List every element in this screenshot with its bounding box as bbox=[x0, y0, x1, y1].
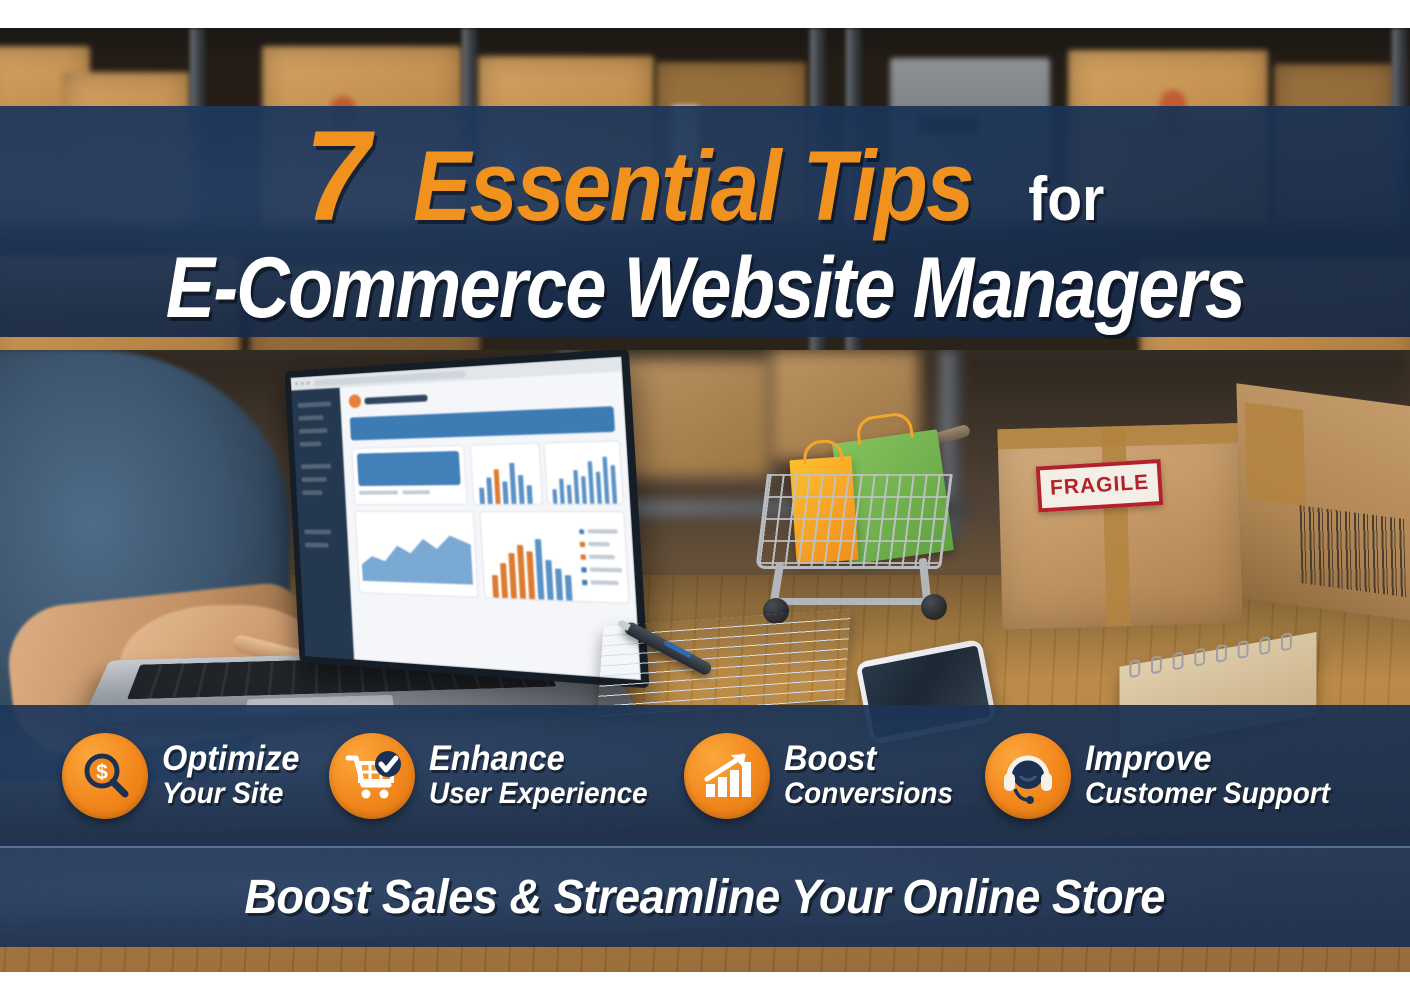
fragile-label: FRAGILE bbox=[1036, 459, 1164, 513]
header-banner: 7 Essential Tips for E-Commerce Website … bbox=[0, 106, 1410, 337]
features-row: $ Optimize Your Site bbox=[0, 705, 1410, 846]
feature-improve-customer-support[interactable]: Improve Customer Support bbox=[985, 733, 1348, 819]
feature-label-line1: Enhance bbox=[429, 741, 648, 777]
tagline-block: Boost Sales & Streamline Your Online Sto… bbox=[0, 848, 1410, 947]
title-audience: E-Commerce Website Managers bbox=[166, 245, 1244, 331]
analytics-dashboard-screen bbox=[291, 356, 642, 680]
svg-text:$: $ bbox=[96, 761, 108, 784]
feature-label-line2: Customer Support bbox=[1085, 779, 1330, 810]
feature-label-line2: User Experience bbox=[429, 779, 648, 810]
poster-canvas: FRAGILE bbox=[0, 0, 1410, 1003]
features-banner: $ Optimize Your Site bbox=[0, 705, 1410, 846]
title-line-primary: 7 Essential Tips for bbox=[302, 113, 1108, 241]
cart-basket bbox=[755, 474, 953, 569]
feature-label: Enhance User Experience bbox=[429, 741, 664, 809]
feature-boost-conversions[interactable]: Boost Conversions bbox=[684, 733, 966, 819]
headset-icon bbox=[985, 733, 1071, 819]
feature-optimize-your-site[interactable]: $ Optimize Your Site bbox=[62, 733, 310, 819]
cart-wheel bbox=[921, 594, 947, 620]
bar-chart-arrow-icon bbox=[684, 733, 770, 819]
fragile-label-text: FRAGILE bbox=[1049, 471, 1149, 501]
feature-label-line1: Improve bbox=[1085, 741, 1330, 777]
feature-enhance-user-experience[interactable]: Enhance User Experience bbox=[329, 733, 664, 819]
title-line-secondary: E-Commerce Website Managers bbox=[78, 245, 1332, 331]
tip-count-number: 7 bbox=[305, 113, 367, 241]
laptop-lid bbox=[285, 350, 650, 688]
cardboard-parcel: FRAGILE bbox=[997, 393, 1410, 654]
feature-label: Improve Customer Support bbox=[1085, 741, 1348, 809]
packing-tape bbox=[1245, 402, 1306, 506]
tagline-banner: Boost Sales & Streamline Your Online Sto… bbox=[0, 846, 1410, 947]
feature-label-line2: Conversions bbox=[784, 779, 953, 810]
cart-frame bbox=[774, 598, 936, 605]
title-block: 7 Essential Tips for E-Commerce Website … bbox=[0, 106, 1410, 337]
feature-label-line1: Boost bbox=[784, 741, 953, 777]
laptop bbox=[100, 360, 630, 730]
title-connector-for: for bbox=[1029, 169, 1105, 231]
tagline-text: Boost Sales & Streamline Your Online Sto… bbox=[245, 870, 1166, 925]
miniature-shopping-cart bbox=[745, 412, 975, 632]
feature-label: Boost Conversions bbox=[784, 741, 966, 809]
magnifier-dollar-icon: $ bbox=[62, 733, 148, 819]
feature-label-line1: Optimize bbox=[162, 741, 299, 777]
feature-label-line2: Your Site bbox=[162, 779, 299, 810]
title-essential-tips: Essential Tips bbox=[413, 136, 973, 235]
parcel-barcode bbox=[1300, 505, 1406, 597]
feature-label: Optimize Your Site bbox=[162, 741, 310, 809]
shopping-cart-check-icon bbox=[329, 733, 415, 819]
